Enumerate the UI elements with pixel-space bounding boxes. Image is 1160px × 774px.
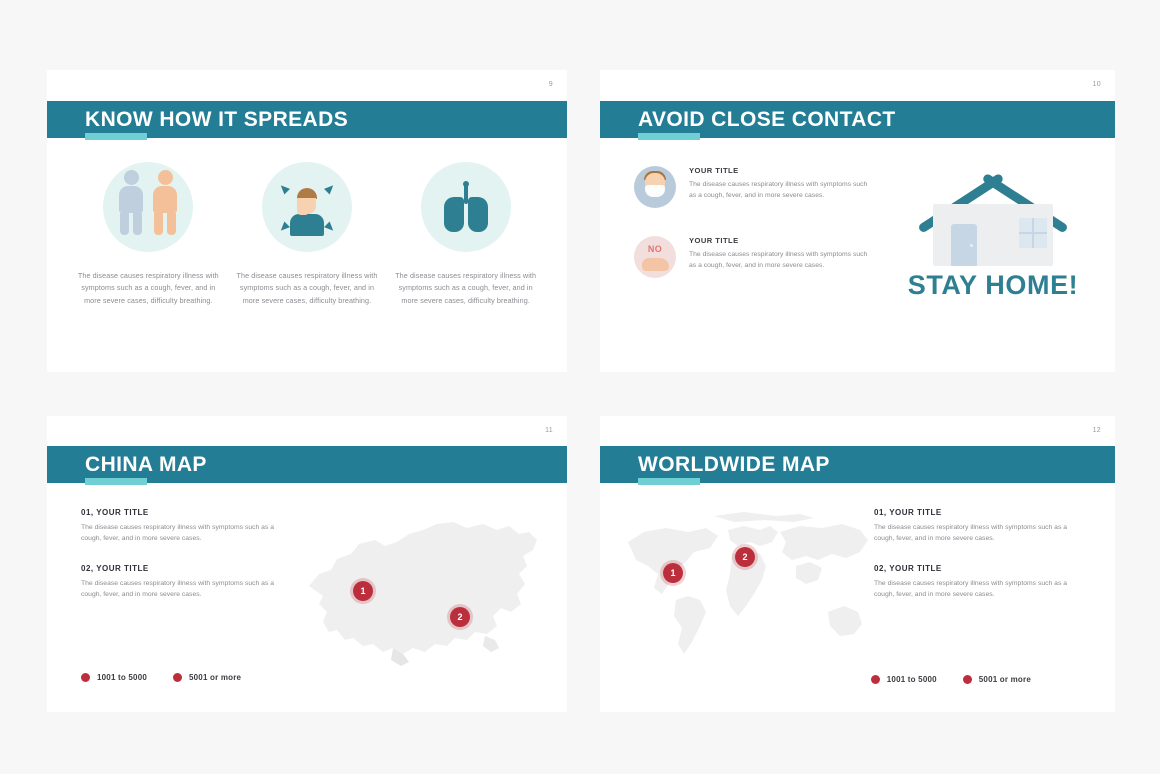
- legend-label: 5001 or more: [979, 675, 1031, 684]
- icon-column[interactable]: The disease causes respiratory illness w…: [234, 162, 379, 307]
- legend-item[interactable]: 5001 or more: [963, 675, 1031, 684]
- map-legend: 1001 to 5000 5001 or more: [871, 675, 1031, 684]
- slide-title: CHINA MAP: [85, 453, 207, 477]
- legend-label: 5001 or more: [189, 673, 241, 682]
- slide-title: WORLDWIDE MAP: [638, 453, 830, 477]
- no-label: NO: [634, 244, 676, 254]
- legend-label: 1001 to 5000: [887, 675, 937, 684]
- map-marker-label: 2: [457, 612, 462, 622]
- legend-dot-icon: [871, 675, 880, 684]
- title-accent-bar: [638, 133, 700, 140]
- legend-item[interactable]: 5001 or more: [173, 673, 241, 682]
- entry-title: 02, YOUR TITLE: [81, 564, 296, 573]
- title-accent-bar: [85, 478, 147, 485]
- no-handshake-icon: NO: [634, 236, 676, 278]
- entry-body: The disease causes respiratory illness w…: [874, 578, 1089, 600]
- entry-title: 01, YOUR TITLE: [81, 508, 296, 517]
- icon-columns: The disease causes respiratory illness w…: [47, 162, 567, 307]
- two-people-icon: [103, 162, 193, 252]
- china-map-shape: [297, 504, 557, 674]
- legend-item[interactable]: 1001 to 5000: [81, 673, 147, 682]
- slide-know-how-it-spreads[interactable]: 9 KNOW HOW IT SPREADS The disease causes…: [47, 70, 567, 372]
- spread-arrow-icon: [324, 182, 336, 194]
- person-figure-blue: [119, 170, 143, 235]
- legend-dot-icon: [963, 675, 972, 684]
- slide-deck: 9 KNOW HOW IT SPREADS The disease causes…: [0, 0, 1160, 774]
- map-marker[interactable]: 2: [732, 544, 758, 570]
- entry-body: The disease causes respiratory illness w…: [81, 578, 296, 600]
- entry-body: The disease causes respiratory illness w…: [874, 522, 1089, 544]
- person-coughing-figure: [290, 188, 324, 236]
- slide-china-map[interactable]: 11 CHINA MAP 01, YOUR TITLE The disease …: [47, 416, 567, 712]
- stay-home-graphic: STAY HOME!: [893, 166, 1093, 301]
- slide-title: KNOW HOW IT SPREADS: [85, 108, 348, 132]
- map-marker-label: 1: [670, 568, 675, 578]
- spread-arrow-icon: [324, 221, 336, 233]
- legend-label: 1001 to 5000: [97, 673, 147, 682]
- map-entries: 01, YOUR TITLE The disease causes respir…: [874, 508, 1089, 620]
- contact-tips-list: YOUR TITLE The disease causes respirator…: [634, 166, 874, 306]
- map-marker[interactable]: 1: [350, 578, 376, 604]
- map-legend: 1001 to 5000 5001 or more: [81, 673, 241, 682]
- slide-title: AVOID CLOSE CONTACT: [638, 108, 896, 132]
- person-figure-orange: [153, 170, 177, 235]
- masked-face-icon: [634, 166, 676, 208]
- legend-dot-icon: [81, 673, 90, 682]
- entry-title: 02, YOUR TITLE: [874, 564, 1089, 573]
- world-map-shape: [614, 508, 884, 668]
- coughing-person-icon: [262, 162, 352, 252]
- column-body-text: The disease causes respiratory illness w…: [76, 270, 221, 307]
- stay-home-caption: STAY HOME!: [893, 270, 1093, 301]
- spread-arrow-icon: [278, 221, 290, 233]
- list-item[interactable]: YOUR TITLE The disease causes respirator…: [634, 166, 874, 208]
- icon-column[interactable]: The disease causes respiratory illness w…: [76, 162, 221, 307]
- list-item-body: The disease causes respiratory illness w…: [689, 179, 874, 201]
- legend-item[interactable]: 1001 to 5000: [871, 675, 937, 684]
- house-door-icon: [951, 224, 977, 266]
- spread-arrow-icon: [278, 182, 290, 194]
- map-marker-label: 1: [360, 586, 365, 596]
- list-item-body: The disease causes respiratory illness w…: [689, 249, 874, 271]
- page-number: 9: [549, 81, 553, 88]
- list-item[interactable]: NO YOUR TITLE The disease causes respira…: [634, 236, 874, 278]
- title-accent-bar: [638, 478, 700, 485]
- column-body-text: The disease causes respiratory illness w…: [393, 270, 538, 307]
- page-number: 12: [1093, 427, 1101, 434]
- page-number: 10: [1093, 81, 1101, 88]
- column-body-text: The disease causes respiratory illness w…: [234, 270, 379, 307]
- page-number: 11: [545, 427, 553, 434]
- map-marker-label: 2: [742, 552, 747, 562]
- title-accent-bar: [85, 133, 147, 140]
- legend-dot-icon: [173, 673, 182, 682]
- china-map[interactable]: 1 2: [297, 504, 557, 674]
- map-marker[interactable]: 2: [447, 604, 473, 630]
- map-entries: 01, YOUR TITLE The disease causes respir…: [81, 508, 296, 620]
- world-map[interactable]: 1 2: [614, 508, 884, 668]
- slide-worldwide-map[interactable]: 12 WORLDWIDE MAP 1: [600, 416, 1115, 712]
- house-icon: [909, 166, 1077, 266]
- entry-title: 01, YOUR TITLE: [874, 508, 1089, 517]
- icon-column[interactable]: The disease causes respiratory illness w…: [393, 162, 538, 307]
- list-item-title: YOUR TITLE: [689, 236, 874, 245]
- lungs-icon: [421, 162, 511, 252]
- list-item-title: YOUR TITLE: [689, 166, 874, 175]
- entry-body: The disease causes respiratory illness w…: [81, 522, 296, 544]
- slide-avoid-close-contact[interactable]: 10 AVOID CLOSE CONTACT YOUR TITLE The di…: [600, 70, 1115, 372]
- house-window-icon: [1019, 218, 1047, 248]
- map-marker[interactable]: 1: [660, 560, 686, 586]
